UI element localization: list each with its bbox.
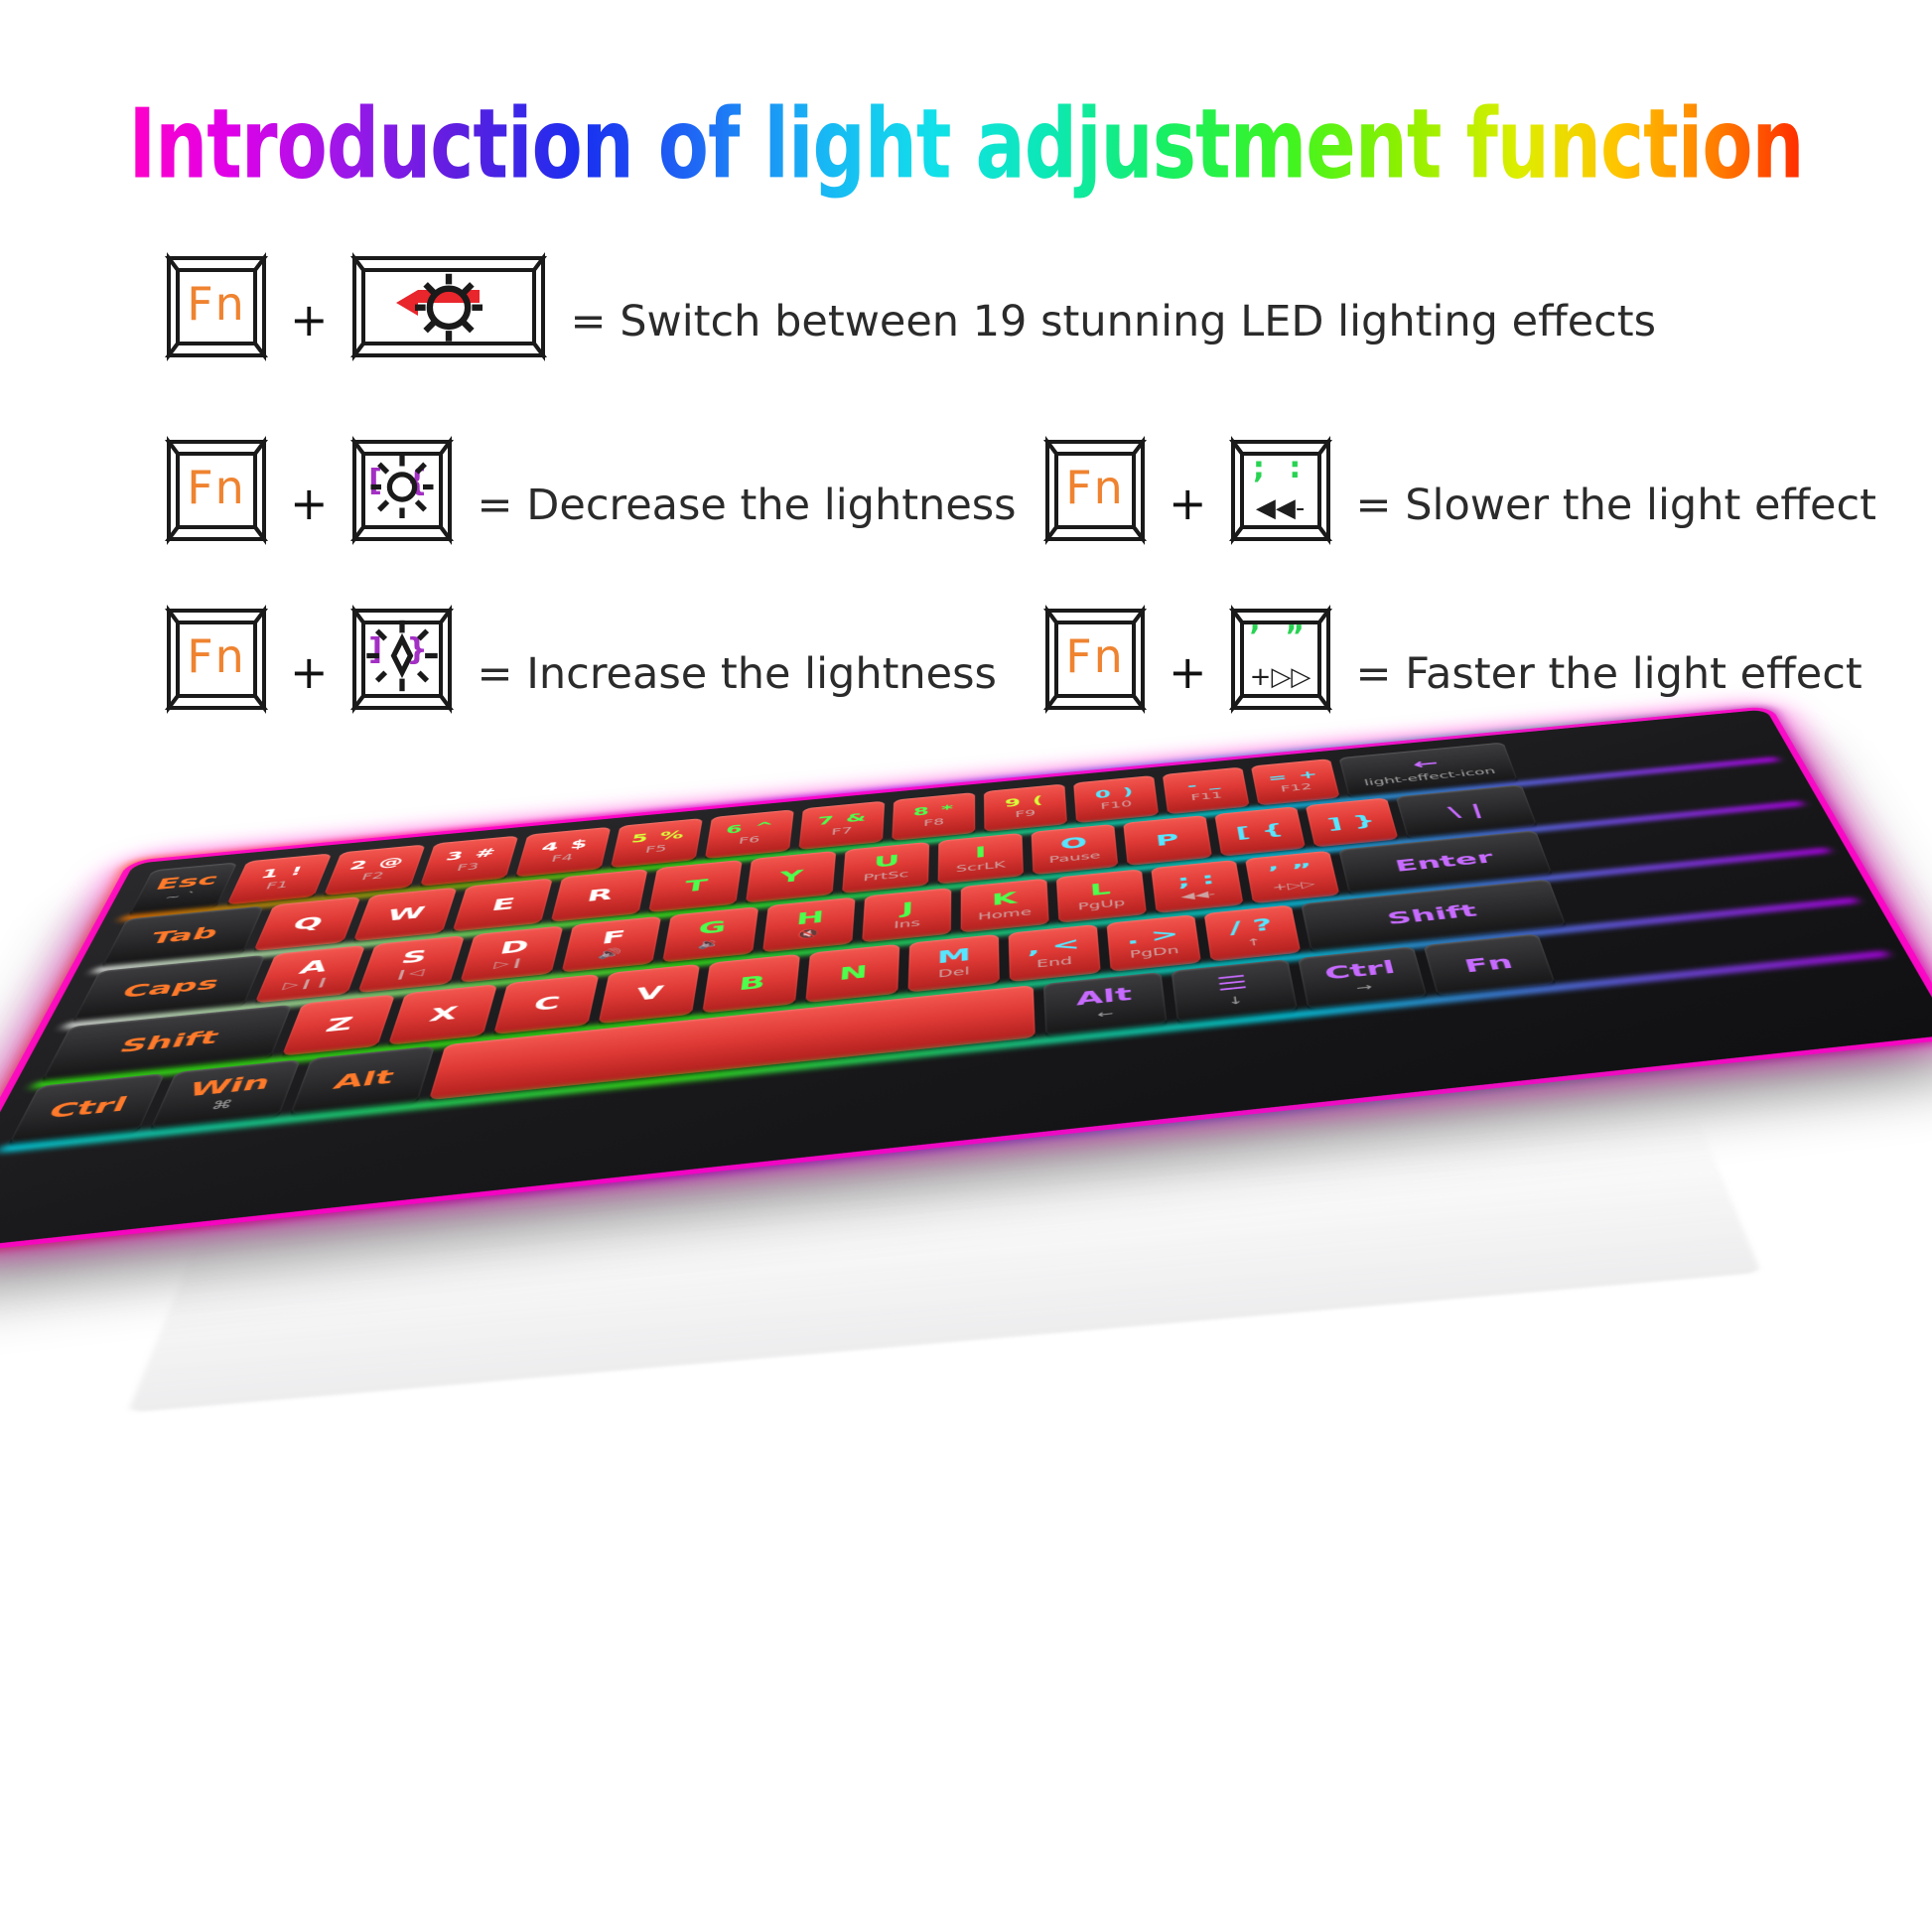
- keycap-fn-1[interactable]: Fn: [159, 248, 274, 363]
- key-legend-sub: ▷❙❙: [281, 976, 332, 991]
- legend-text-5: Faster the light effect: [1405, 649, 1862, 699]
- key-legend-top: 1 !: [259, 865, 307, 881]
- legend-row-increase-lightness: Fn + ] } = Increase the lightnes: [159, 601, 997, 716]
- key-legend-main: Q: [290, 914, 325, 933]
- key-space-4-5[interactable]: ☰↓: [1172, 959, 1299, 1023]
- keycap-fn-label: Fn: [1065, 465, 1125, 510]
- key-8-0-8[interactable]: 8 *F8: [892, 792, 975, 841]
- key-legend-main: Esc: [153, 872, 221, 893]
- key-legend-main: Z: [323, 1015, 355, 1035]
- key-legend-main: Shift: [1385, 902, 1478, 928]
- key-legend-main: R: [586, 886, 615, 903]
- keycap-right-arrow-light[interactable]: [345, 248, 553, 363]
- rewind-icon: ◀◀-: [1256, 495, 1305, 521]
- equals-sign-4: =: [478, 649, 513, 699]
- key-legend-top: 8 *: [912, 803, 955, 818]
- key-9-0-9[interactable]: 9 (F9: [984, 783, 1067, 832]
- key-legend-main: ←: [1411, 756, 1441, 771]
- key-e-1-3[interactable]: E: [452, 878, 552, 931]
- key-legend-sub: ScrLK: [956, 860, 1006, 874]
- plus-sign-1: +: [290, 297, 329, 343]
- key-legend-main: Y: [778, 868, 803, 886]
- legend-text-1: Switch between 19 stunning LED lighting …: [620, 297, 1656, 346]
- page-title: Introduction of light adjustment functio…: [128, 87, 1803, 200]
- keycap-fn-5[interactable]: Fn: [1037, 601, 1153, 716]
- key-legend-main: Alt: [331, 1067, 396, 1093]
- keycap-semicolon-label: ; :: [1253, 454, 1308, 483]
- key-legend-sub: →: [1355, 982, 1374, 995]
- key-fn-4-7[interactable]: Fn: [1423, 933, 1555, 996]
- title-container: Introduction of light adjustment functio…: [0, 87, 1932, 180]
- key-u-1-7[interactable]: UPrtSc: [842, 842, 929, 894]
- key-c-3-3[interactable]: C: [493, 974, 600, 1035]
- key-v-3-4[interactable]: V: [598, 964, 700, 1025]
- key-legend-main: Fn: [1462, 953, 1516, 976]
- key-legend-top: 4 $: [540, 838, 591, 854]
- keycap-fn-label: Fn: [187, 465, 246, 510]
- key-legend-top: 3 #: [445, 847, 499, 864]
- keycap-bracket-right[interactable]: ] }: [345, 601, 460, 716]
- brightness-up-icon: [360, 614, 444, 698]
- key-legend-sub: ~ `: [163, 891, 198, 902]
- key-legend-main: D: [497, 937, 530, 957]
- key-legend-sub: Del: [938, 966, 970, 980]
- key-legend-sub: light-effect-icon: [1363, 766, 1496, 787]
- key-legend-main: ’ ”: [1267, 861, 1314, 881]
- key-legend-top: 6 ^: [725, 820, 776, 836]
- key-legend-sub: ⌘: [209, 1098, 235, 1112]
- key-legend-main: \ |: [1447, 802, 1485, 820]
- key-legend-main: Ctrl: [1323, 958, 1398, 983]
- key-legend-main: A: [297, 957, 331, 977]
- legend-text-2: Decrease the lightness: [526, 481, 1016, 530]
- key-space-3-10[interactable]: / ?↑: [1204, 904, 1302, 961]
- key-legend-main: Shift: [116, 1028, 221, 1056]
- key-legend-sub: Pause: [1048, 851, 1101, 865]
- key-2-0-2[interactable]: 2 @F2: [324, 844, 426, 896]
- keycap-fn-label: Fn: [187, 281, 246, 327]
- key-legend-main: W: [384, 904, 427, 924]
- key-5-0-5[interactable]: 5 %F5: [611, 818, 703, 868]
- key-o-1-9[interactable]: OPause: [1032, 824, 1119, 875]
- key-a-2-1[interactable]: A▷❙❙: [254, 945, 365, 1004]
- key-space-3-8[interactable]: , <End: [1009, 924, 1101, 982]
- key-d-2-3[interactable]: D▷❙: [460, 925, 563, 983]
- legend-text-3: Slower the light effect: [1405, 481, 1876, 530]
- key-z-3-1[interactable]: Z: [282, 994, 395, 1055]
- key-legend-sub: PrtSc: [863, 870, 909, 884]
- key-r-1-4[interactable]: R: [551, 869, 648, 922]
- key-legend-main: , <: [1027, 935, 1080, 958]
- key-legend-main: Ctrl: [45, 1094, 131, 1122]
- key-7-0-7[interactable]: 7 &F7: [798, 801, 885, 851]
- key-4-0-4[interactable]: 4 $F4: [515, 827, 611, 878]
- legend-text-4: Increase the lightness: [526, 649, 997, 699]
- key-j-2-7[interactable]: JIns: [862, 888, 951, 943]
- key-3-0-3[interactable]: 3 #F3: [420, 836, 519, 887]
- key-legend-main: . >: [1125, 925, 1179, 947]
- key-legend-sub: ❙◁: [391, 967, 425, 981]
- legend-row-slower-light-effect: Fn + ; : ◀◀- = Slower the light effect: [1037, 432, 1876, 547]
- keycap-quote[interactable]: ’ ” +▷▷: [1223, 601, 1338, 716]
- legend-keycombo-switch-effects: Fn +: [159, 248, 553, 363]
- key-legend-sub: F5: [644, 844, 667, 855]
- key-legend-sub: Ins: [894, 918, 920, 931]
- plus-sign-2: +: [290, 481, 329, 526]
- equals-sign-2: =: [478, 481, 513, 530]
- key-q-1-1[interactable]: Q: [253, 897, 360, 951]
- key-n-3-6[interactable]: N: [805, 944, 899, 1003]
- key-legend-main: Win: [186, 1072, 274, 1100]
- keycap-fn-2[interactable]: Fn: [159, 432, 274, 547]
- legend-description-decrease-lightness: = Decrease the lightness: [478, 481, 1017, 530]
- key-space-3-9[interactable]: . >PgDn: [1106, 914, 1200, 972]
- key-legend-main: C: [532, 994, 563, 1015]
- key-legend-main: M: [937, 946, 971, 967]
- legend-row-faster-light-effect: Fn + ’ ” +▷▷ = Faster the light effect: [1037, 601, 1863, 716]
- key-legend-main: Tab: [147, 924, 220, 947]
- key-legend-sub: ↑: [1245, 937, 1262, 949]
- key-legend-sub: 🔉: [697, 937, 722, 950]
- key-b-3-5[interactable]: B: [702, 954, 800, 1014]
- key-legend-top: 9 (: [1005, 794, 1045, 809]
- key-legend-sub: PgUp: [1078, 897, 1126, 912]
- key-legend-main: Caps: [119, 974, 222, 1001]
- key-legend-main: T: [683, 877, 708, 895]
- fast-forward-icon: +▷▷: [1250, 664, 1311, 690]
- plus-sign-3: +: [1169, 481, 1207, 526]
- key-legend-sub: F7: [831, 826, 853, 837]
- keycap-fn-4[interactable]: Fn: [159, 601, 274, 716]
- key-i-1-8[interactable]: IScrLK: [938, 833, 1024, 885]
- key-h-2-6[interactable]: H🔇: [762, 897, 856, 953]
- plus-sign-5: +: [1169, 649, 1207, 695]
- key-legend-sub: End: [1036, 956, 1072, 970]
- key-legend-main: ☰: [1215, 973, 1249, 994]
- key-legend-sub: 🔊: [598, 947, 623, 960]
- key-p-1-10[interactable]: P: [1123, 815, 1212, 866]
- key-legend-main: K: [992, 890, 1018, 908]
- key-w-1-2[interactable]: W: [353, 888, 458, 942]
- key-legend-top: 2 @: [347, 856, 407, 873]
- key-legend-main: E: [489, 896, 516, 913]
- key-legend-sub: F12: [1280, 782, 1312, 794]
- key-y-1-6[interactable]: Y: [746, 851, 836, 903]
- key-0-0-10[interactable]: 0 )F10: [1073, 775, 1159, 823]
- legend-row-switch-effects: Fn +: [159, 248, 1656, 363]
- key-s-2-2[interactable]: S❙◁: [357, 935, 465, 993]
- legend-description-switch-effects: = Switch between 19 stunning LED lightin…: [571, 297, 1657, 346]
- brightness-down-icon: [360, 445, 444, 529]
- key-legend-sub: PgDn: [1129, 945, 1179, 960]
- keycap-bracket-left[interactable]: [ {: [345, 432, 460, 547]
- key-legend-top: 0 ): [1094, 786, 1135, 801]
- key-x-3-2[interactable]: X: [388, 984, 497, 1045]
- key-legend-sub: ↓: [1226, 995, 1244, 1008]
- legend-description-increase-lightness: = Increase the lightness: [478, 649, 997, 699]
- legend-description-slower-light-effect: = Slower the light effect: [1356, 481, 1876, 530]
- key-legend-main: X: [427, 1004, 460, 1025]
- keycap-fn-label: Fn: [1065, 633, 1125, 679]
- keycap-quote-label: ’ ”: [1249, 622, 1311, 652]
- legend-row-decrease-lightness: Fn + [ { = Decrease the lightnes: [159, 432, 1017, 547]
- key-legend-sub: F4: [550, 853, 574, 864]
- equals-sign-5: =: [1356, 649, 1392, 699]
- key-legend-main: S: [399, 947, 430, 967]
- equals-sign-1: =: [571, 297, 607, 346]
- key-win-4-1[interactable]: Win⌘: [150, 1059, 301, 1129]
- key-t-1-5[interactable]: T: [648, 860, 743, 912]
- key-legend-main: J: [901, 899, 914, 917]
- keycap-semicolon[interactable]: ; : ◀◀-: [1223, 432, 1338, 547]
- light-effect-icon: [368, 261, 529, 345]
- key-legend-sub: ←: [1097, 1008, 1114, 1021]
- keyboard-product-image: Esc~ `1 !F12 @F23 #F34 $F45 %F56 ^F67 &F…: [0, 784, 1932, 1932]
- key-m-3-7[interactable]: MDel: [907, 934, 999, 993]
- key-alt-4-4[interactable]: Alt←: [1043, 972, 1168, 1036]
- key-legend-main: V: [634, 983, 665, 1004]
- equals-sign-3: =: [1356, 481, 1392, 530]
- key-alt-4-2[interactable]: Alt: [290, 1045, 435, 1114]
- keycap-fn-3[interactable]: Fn: [1037, 432, 1153, 547]
- key-legend-sub: F11: [1190, 791, 1223, 803]
- key-legend-main: B: [738, 973, 766, 994]
- key-legend-main: N: [838, 963, 868, 984]
- key-ctrl-4-6[interactable]: Ctrl→: [1298, 946, 1428, 1009]
- plus-sign-4: +: [290, 649, 329, 695]
- key-legend-main: F: [601, 928, 627, 947]
- key-legend-main: I: [975, 844, 987, 860]
- key-legend-main: Alt: [1075, 985, 1132, 1009]
- legend-description-faster-light-effect: = Faster the light effect: [1356, 649, 1863, 699]
- key-legend-sub: F2: [360, 871, 385, 882]
- key-space-1-13[interactable]: \ |: [1396, 784, 1538, 838]
- keycap-fn-label: Fn: [187, 633, 246, 679]
- key-legend-main: / ?: [1228, 916, 1274, 937]
